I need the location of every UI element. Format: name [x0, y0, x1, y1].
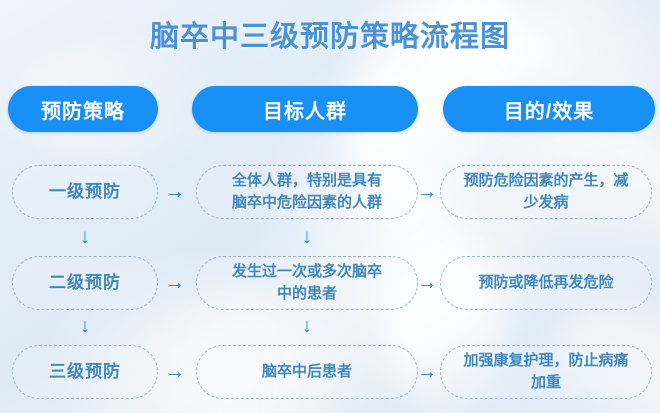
node-population-primary: 全体人群，特别是具有 脑卒中危险因素的人群 [196, 165, 418, 219]
arrow-right-icon: → [162, 273, 188, 293]
arrow-right-glyph: → [417, 182, 437, 202]
arrow-down-icon: ↓ [75, 313, 95, 339]
arrow-down-icon: ↓ [297, 224, 317, 250]
node-label: 三级预防 [49, 360, 121, 385]
node-label-line2: 中的患者 [232, 283, 382, 305]
arrow-down-glyph: ↓ [302, 227, 312, 247]
column-header-label: 预防策略 [41, 95, 125, 124]
column-header-prevention-strategy: 预防策略 [8, 86, 158, 132]
node-label-line1: 全体人群，特别是具有 [232, 170, 382, 192]
arrow-right-glyph: → [417, 273, 437, 293]
arrow-right-icon: → [162, 362, 188, 382]
node-label-line1: 发生过一次或多次脑卒 [232, 261, 382, 283]
node-label-line1: 加强康复护理，防止病痛 [463, 350, 628, 372]
arrow-down-glyph: ↓ [302, 316, 312, 336]
node-population-secondary: 发生过一次或多次脑卒 中的患者 [196, 256, 418, 310]
arrow-right-glyph: → [417, 362, 437, 382]
column-header-target-population: 目标人群 [192, 86, 418, 132]
arrow-down-icon: ↓ [297, 313, 317, 339]
arrow-right-icon: → [414, 182, 440, 202]
column-header-purpose-effect: 目的/效果 [443, 86, 655, 132]
node-level-primary: 一级预防 [12, 165, 158, 219]
node-label-line1: 预防危险因素的产生，减 [463, 170, 628, 192]
node-population-tertiary: 脑卒中后患者 [196, 345, 418, 399]
node-label-line1: 预防或降低再发危险 [478, 272, 613, 294]
page-title: 脑卒中三级预防策略流程图 [0, 13, 660, 55]
stroke-prevention-flowchart: 脑卒中三级预防策略流程图 预防策略 目标人群 目的/效果 一级预防 → 全体人群… [0, 0, 660, 413]
arrow-right-glyph: → [165, 273, 185, 293]
node-label-line1: 脑卒中后患者 [262, 361, 352, 383]
node-label: 二级预防 [49, 271, 121, 296]
arrow-down-glyph: ↓ [80, 316, 90, 336]
node-label-line2: 加重 [463, 372, 628, 394]
node-label-line2: 脑卒中危险因素的人群 [232, 192, 382, 214]
column-header-label: 目标人群 [263, 95, 347, 124]
node-purpose-primary: 预防危险因素的产生，减 少发病 [440, 165, 652, 219]
arrow-right-icon: → [414, 362, 440, 382]
arrow-down-icon: ↓ [75, 224, 95, 250]
arrow-right-glyph: → [165, 182, 185, 202]
arrow-right-glyph: → [165, 362, 185, 382]
arrow-right-icon: → [414, 273, 440, 293]
node-label-line2: 少发病 [463, 192, 628, 214]
column-header-label: 目的/效果 [504, 95, 595, 124]
node-level-secondary: 二级预防 [12, 256, 158, 310]
arrow-down-glyph: ↓ [80, 227, 90, 247]
node-purpose-tertiary: 加强康复护理，防止病痛 加重 [440, 345, 652, 399]
node-label: 一级预防 [49, 180, 121, 205]
arrow-right-icon: → [162, 182, 188, 202]
node-level-tertiary: 三级预防 [12, 345, 158, 399]
node-purpose-secondary: 预防或降低再发危险 [440, 256, 652, 310]
